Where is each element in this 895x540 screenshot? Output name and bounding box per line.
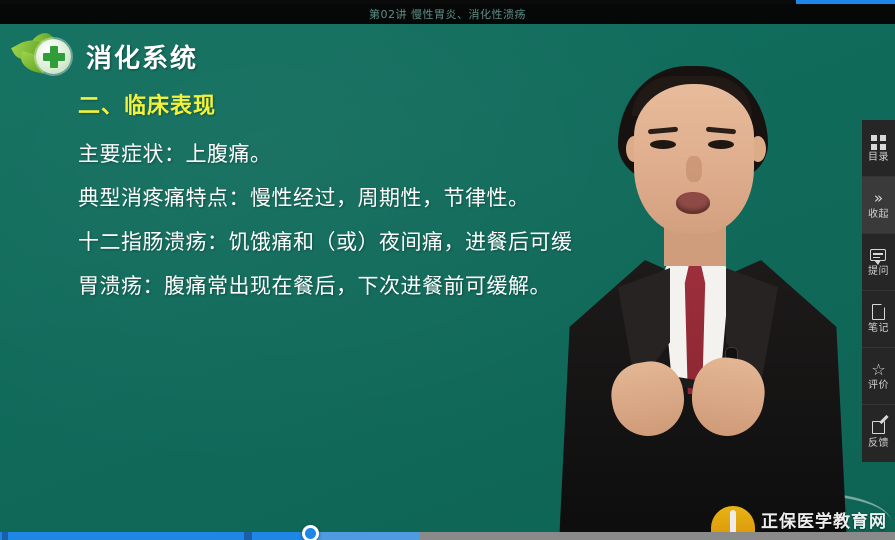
progress-chapter-mark[interactable] bbox=[244, 532, 252, 540]
dock-item-feedback-label: 反馈 bbox=[868, 439, 889, 449]
cross-circle-icon bbox=[36, 39, 71, 74]
dock-item-catalog-label: 目录 bbox=[868, 153, 889, 163]
presenter-figure bbox=[540, 24, 870, 540]
progress-played bbox=[0, 532, 310, 540]
chevron-right-double-icon: » bbox=[870, 190, 887, 207]
grid-icon bbox=[870, 133, 887, 150]
presenter-nose bbox=[686, 156, 702, 182]
brand-title: 消化系统 bbox=[86, 38, 198, 75]
green-cross-leaf-icon bbox=[14, 32, 76, 80]
zhengbao-dome-icon bbox=[711, 506, 755, 532]
dock-item-rating-label: 评价 bbox=[868, 381, 889, 391]
video-player: 消化系统 二、临床表现 主要症状：上腹痛。 典型消疼痛特点：慢性经过，周期性，节… bbox=[0, 0, 895, 540]
dock-item-collapse-label: 收起 bbox=[868, 210, 889, 220]
top-loading-strip bbox=[0, 0, 895, 4]
dock-item-collapse[interactable]: » 收起 bbox=[862, 177, 895, 234]
edit-pencil-icon bbox=[870, 419, 887, 436]
cross-bar-horizontal bbox=[43, 53, 65, 61]
dock-item-rating[interactable]: ☆ 评价 bbox=[862, 348, 895, 405]
note-page-icon bbox=[870, 304, 887, 321]
dock-item-catalog[interactable]: 目录 bbox=[862, 120, 895, 177]
dock-item-ask-label: 提问 bbox=[868, 267, 889, 277]
presenter-eye-left bbox=[650, 140, 676, 149]
watermark-text: 正保医学教育网 bbox=[761, 507, 887, 532]
site-watermark: 正保医学教育网 bbox=[711, 506, 887, 532]
dock-item-ask[interactable]: 提问 bbox=[862, 234, 895, 291]
video-progress-bar[interactable] bbox=[0, 532, 895, 540]
dock-item-notes[interactable]: 笔记 bbox=[862, 291, 895, 348]
dome-slit bbox=[730, 510, 736, 532]
page-title: 第02讲 慢性胃炎、消化性溃疡 bbox=[369, 6, 526, 22]
loading-strip-fill bbox=[796, 0, 895, 4]
dock-item-notes-label: 笔记 bbox=[868, 324, 889, 334]
right-tool-dock: 目录 » 收起 提问 笔记 ☆ 评价 反馈 bbox=[862, 120, 895, 462]
progress-scrubber-handle[interactable] bbox=[302, 525, 319, 540]
dock-item-feedback[interactable]: 反馈 bbox=[862, 405, 895, 462]
course-brand-logo: 消化系统 bbox=[14, 32, 198, 80]
speech-bubble-icon bbox=[870, 247, 887, 264]
presenter-mouth bbox=[676, 192, 710, 214]
star-icon: ☆ bbox=[870, 361, 887, 378]
progress-chapter-mark[interactable] bbox=[2, 532, 8, 540]
presenter-eye-right bbox=[708, 140, 734, 149]
